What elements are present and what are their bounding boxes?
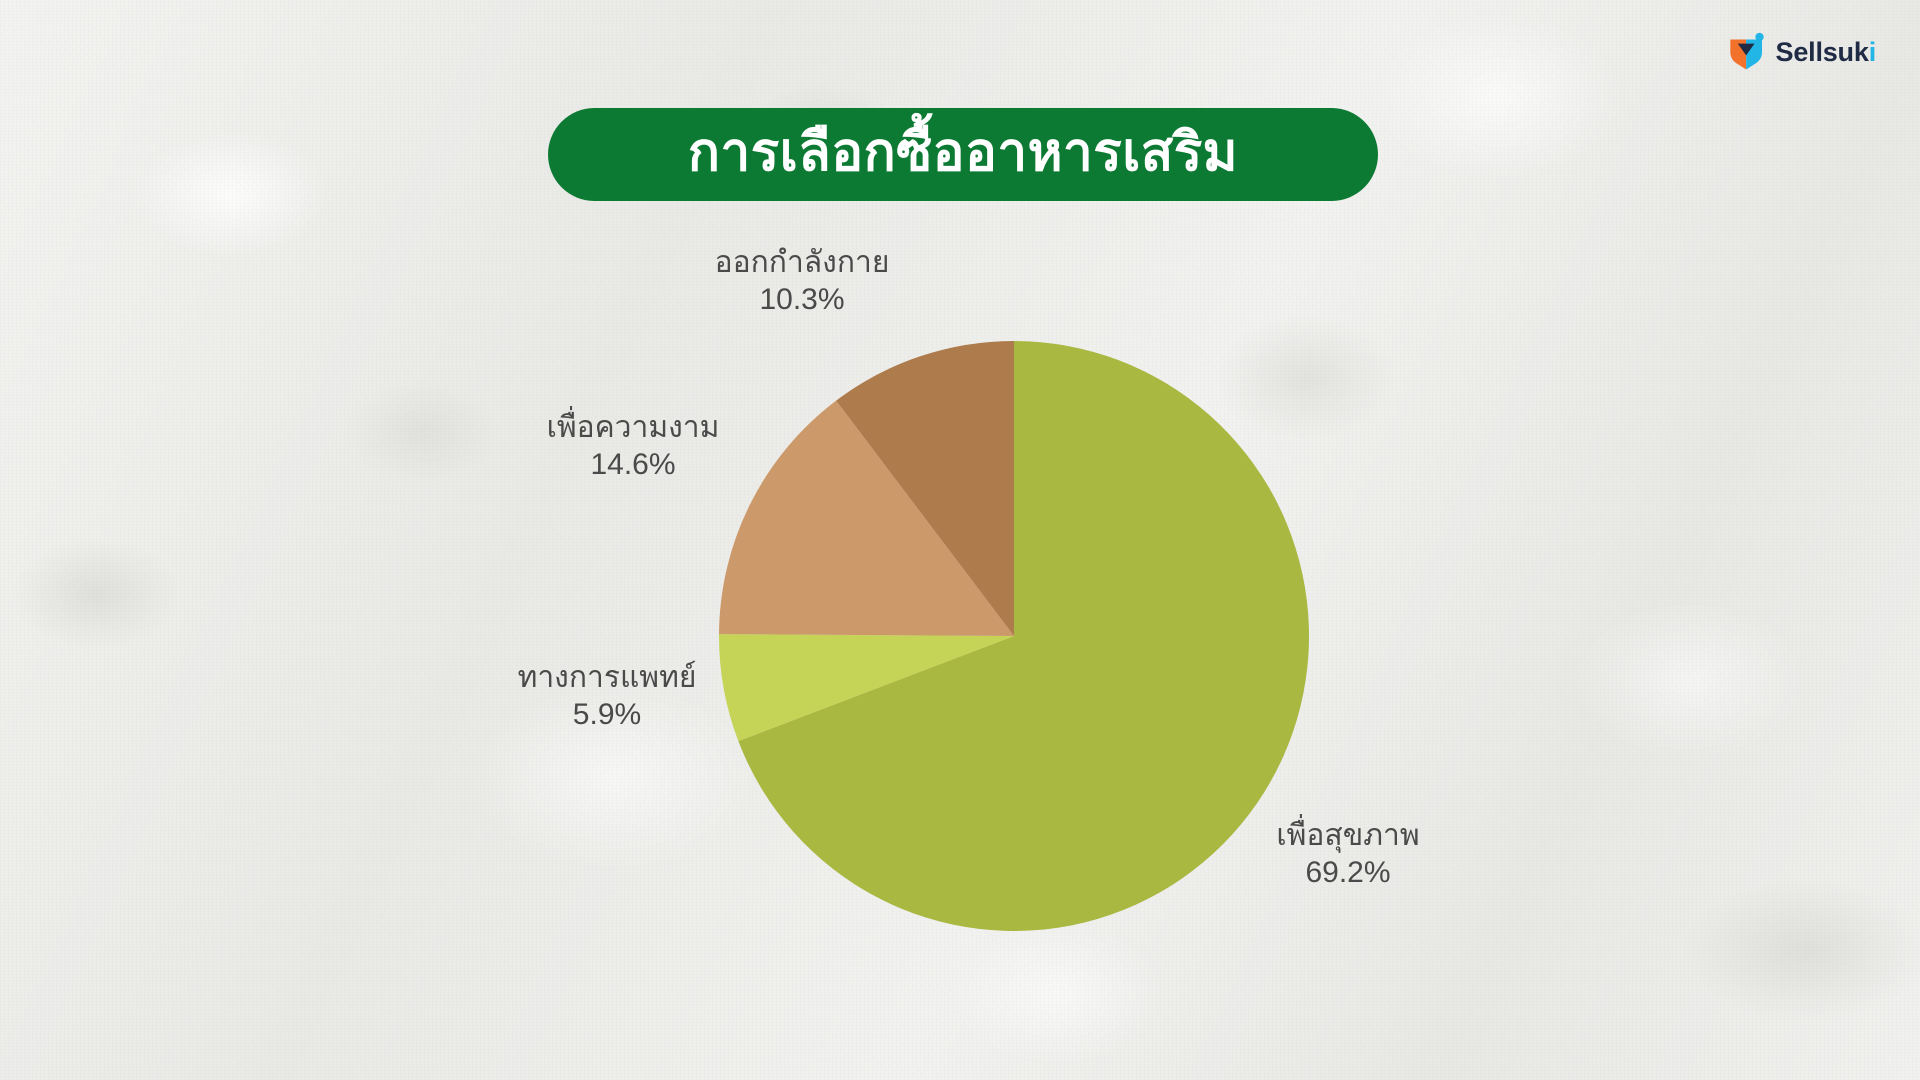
slice-label-health-name: เพื่อสุขภาพ <box>1248 818 1448 855</box>
slice-label-beauty: เพื่อความงาม 14.6% <box>523 410 743 483</box>
slice-label-exercise: ออกกำลังกาย 10.3% <box>702 245 902 318</box>
sellsuki-logo-mark <box>1727 32 1767 72</box>
page-title: การเลือกซื้ออาหารเสริม <box>688 126 1238 179</box>
slice-label-exercise-name: ออกกำลังกาย <box>702 245 902 282</box>
sellsuki-wordmark-part2: k <box>1854 37 1869 67</box>
slice-label-health: เพื่อสุขภาพ 69.2% <box>1248 818 1448 891</box>
sellsuki-wordmark-part1: Sellsu <box>1776 37 1854 67</box>
slice-label-beauty-name: เพื่อความงาม <box>523 410 743 447</box>
pie-slice-group <box>719 341 1309 931</box>
slice-label-medical: ทางการแพทย์ 5.9% <box>497 660 717 733</box>
slice-label-medical-value: 5.9% <box>497 697 717 734</box>
sellsuki-wordmark: Sellsuki <box>1776 39 1876 66</box>
sellsuki-logo: Sellsuki <box>1727 32 1876 72</box>
slice-label-beauty-value: 14.6% <box>523 447 743 484</box>
title-pill: การเลือกซื้ออาหารเสริม <box>548 108 1378 201</box>
slice-label-health-value: 69.2% <box>1248 855 1448 892</box>
slice-label-exercise-value: 10.3% <box>702 282 902 319</box>
sellsuki-wordmark-part3: i <box>1869 37 1876 67</box>
slice-label-medical-name: ทางการแพทย์ <box>497 660 717 697</box>
